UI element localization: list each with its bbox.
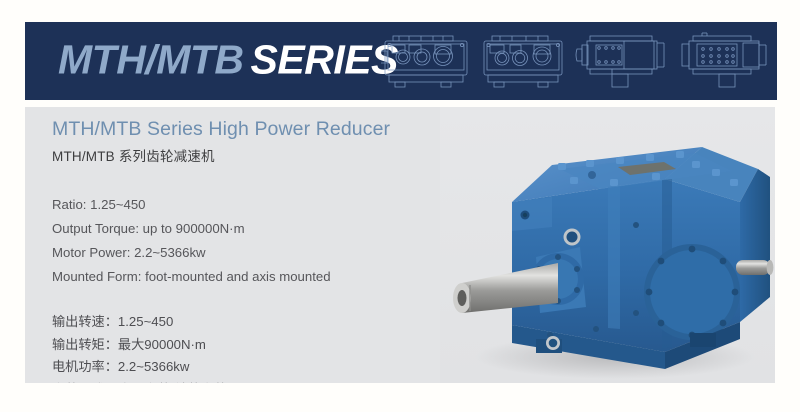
gearbox-top-view-drawing-2 <box>677 31 771 91</box>
spec-output-torque: Output Torque: up to 900000N·m <box>52 217 472 241</box>
gearbox-front-view-drawing <box>381 33 473 89</box>
spec-ratio: Ratio: 1.25~450 <box>52 193 472 217</box>
spec-output-speed-cn: 输出转速：1.25~450 <box>52 311 472 334</box>
blue-industrial-gearbox-photo <box>440 107 775 383</box>
product-info-panel: MTH/MTB Series High Power Reducer MTH/MT… <box>25 107 775 383</box>
spec-motor-power: Motor Power: 2.2~5366kw <box>52 241 472 265</box>
product-text-column: MTH/MTB Series High Power Reducer MTH/MT… <box>52 118 472 383</box>
specs-english: Ratio: 1.25~450 Output Torque: up to 900… <box>52 193 472 289</box>
page-title: MTH/MTB Series High Power Reducer <box>52 118 472 141</box>
spec-output-torque-cn: 输出转矩：最大90000N·m <box>52 334 472 357</box>
banner-title: MTH/MTBSERIES <box>58 40 398 81</box>
header-banner: MTH/MTBSERIES <box>25 22 777 100</box>
specs-chinese: 输出转速：1.25~450 输出转矩：最大90000N·m 电机功率：2.2~5… <box>52 311 472 383</box>
gearbox-front-view-drawing-2 <box>482 33 564 89</box>
product-banner-page: MTH/MTBSERIES <box>0 0 800 412</box>
banner-title-secondary: SERIES <box>244 37 398 83</box>
spec-motor-power-cn: 电机功率：2.2~5366kw <box>52 356 472 379</box>
spec-mounted-form-cn: 安装形式：底脚安装/轴装安装 <box>52 379 472 384</box>
blueprint-drawing-row <box>381 22 771 100</box>
spec-mounted-form: Mounted Form: foot-mounted and axis moun… <box>52 265 472 289</box>
banner-title-primary: MTH/MTB <box>58 37 244 83</box>
secondary-shaft <box>736 260 773 275</box>
page-subtitle: MTH/MTB 系列齿轮减速机 <box>52 145 472 165</box>
gearbox-top-view-drawing <box>574 31 668 91</box>
